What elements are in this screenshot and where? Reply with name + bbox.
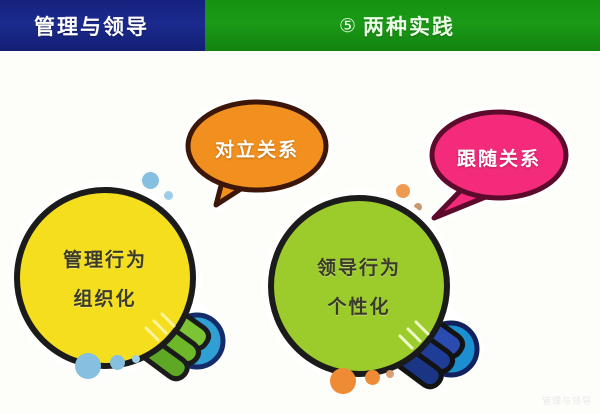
header-band: 管理与领导 ⑤ 两种实践 bbox=[0, 0, 600, 51]
decor-dot-blue-medium-bottom bbox=[110, 355, 125, 370]
opposition-bubble-graphic bbox=[176, 94, 336, 212]
decor-dot-orange-medium-bottom bbox=[365, 370, 380, 385]
decor-dot-blue-large-bottom bbox=[75, 353, 101, 379]
following-bubble: 跟随关系 bbox=[419, 103, 579, 226]
slide-canvas: 管理与领导 ⑤ 两种实践 bbox=[0, 0, 600, 413]
header-left-panel: 管理与领导 bbox=[0, 0, 205, 51]
decor-dot-blue-small-bottom bbox=[132, 355, 140, 363]
header-left-title: 管理与领导 bbox=[34, 11, 149, 41]
watermark: 管理与领导 bbox=[542, 394, 592, 407]
management-bulb-glass bbox=[17, 190, 193, 366]
following-bubble-graphic bbox=[419, 103, 579, 226]
header-section-number: ⑤ bbox=[339, 15, 356, 37]
opposition-bubble: 对立关系 bbox=[176, 94, 336, 212]
decor-dot-tan-small-bottom bbox=[386, 370, 394, 378]
decor-dot-orange-large-bottom bbox=[330, 368, 356, 394]
header-right-panel: ⑤ 两种实践 bbox=[205, 0, 600, 51]
header-right-title: 两种实践 bbox=[363, 11, 455, 41]
